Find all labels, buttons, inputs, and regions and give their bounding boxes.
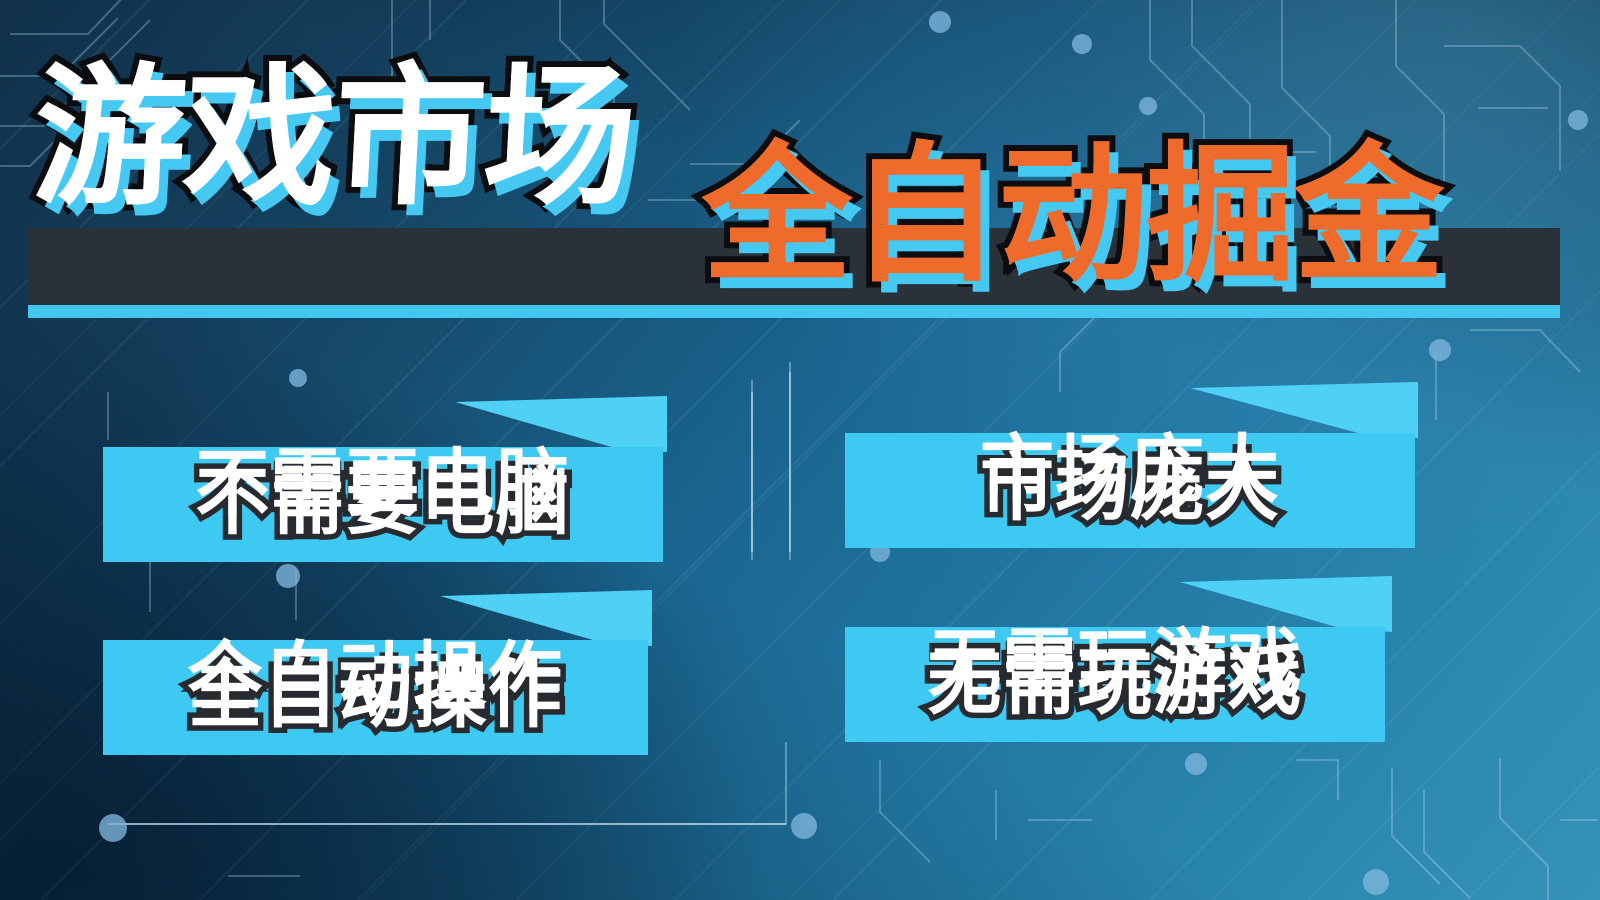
feature-box[interactable]: 市场庞大 市场庞大 (845, 433, 1415, 548)
promo-poster: 游戏市场 游戏市场 全自动掘金 全自动掘金 不需要电脑 不需要电脑 市场庞大 市… (0, 0, 1600, 900)
feature-box[interactable]: 不需要电脑 不需要电脑 (103, 447, 663, 562)
feature-box[interactable]: 无需玩游戏 无需玩游戏 (845, 627, 1385, 742)
title-backdrop-bar (28, 228, 1560, 316)
feature-box[interactable]: 全自动操作 全自动操作 (103, 640, 648, 755)
title-underline-strip (28, 305, 1560, 318)
feature-label: 无需玩游戏 (845, 627, 1385, 701)
feature-label: 市场庞大 (845, 433, 1415, 507)
feature-label: 不需要电脑 (103, 447, 663, 521)
feature-label: 全自动操作 (103, 640, 648, 714)
